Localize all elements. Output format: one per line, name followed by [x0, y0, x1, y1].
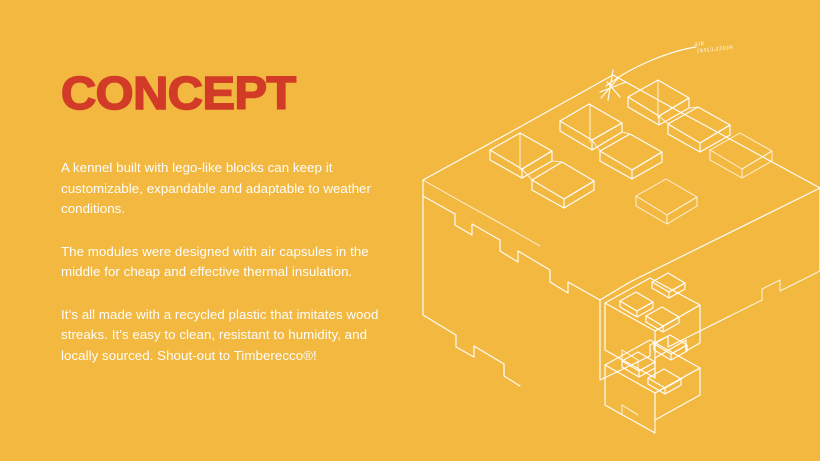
slide-canvas: CONCEPT A kennel built with lego-like bl…: [0, 0, 820, 461]
illustration-isometric-blocks: [400, 20, 820, 420]
page-title: CONCEPT: [61, 70, 421, 116]
large-block-module: [423, 75, 820, 386]
body-paragraph-2: The modules were designed with air capsu…: [61, 242, 401, 283]
small-stacked-block-modules: [605, 273, 700, 433]
body-paragraph-3: It’s all made with a recycled plastic th…: [61, 305, 401, 367]
body-paragraph-1: A kennel built with lego-like blocks can…: [61, 158, 401, 220]
annotation-leader-line: [600, 47, 696, 100]
text-column: CONCEPT A kennel built with lego-like bl…: [61, 70, 401, 366]
